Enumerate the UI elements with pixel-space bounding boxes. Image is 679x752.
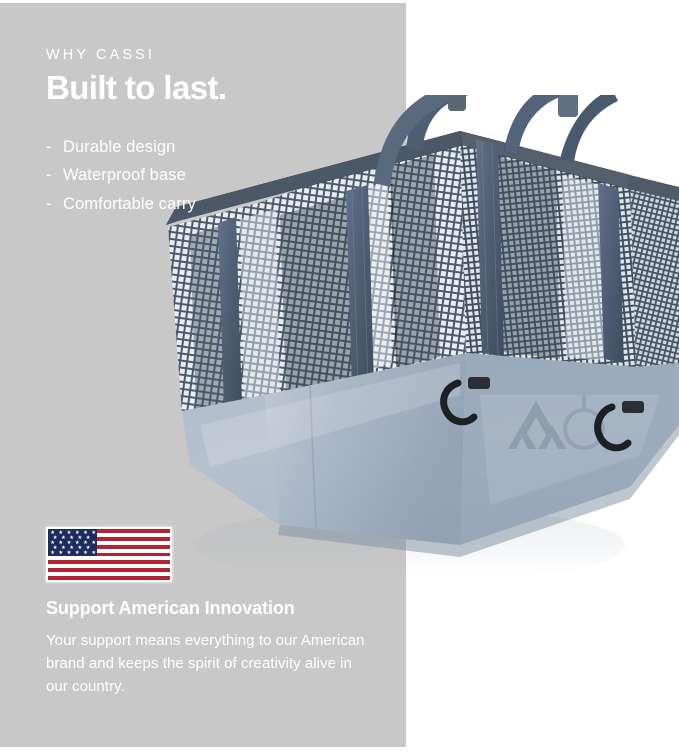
list-item: - Waterproof base	[46, 161, 376, 189]
list-item: - Comfortable carry	[46, 190, 376, 218]
page-title: Built to last.	[46, 70, 376, 107]
support-title: Support American Innovation	[46, 598, 366, 620]
list-item-label: Durable design	[63, 133, 175, 161]
flag-stripe	[48, 576, 170, 580]
bullet-dash-icon: -	[46, 133, 54, 161]
bullet-dash-icon: -	[46, 190, 54, 218]
flag-stripe	[48, 560, 170, 564]
feature-list: - Durable design - Waterproof base - Com…	[46, 133, 376, 218]
flag-stripe	[48, 568, 170, 572]
support-body-text: Your support means everything to our Ame…	[46, 629, 366, 699]
list-item: - Durable design	[46, 133, 376, 161]
top-copy-block: WHY CASSI Built to last. - Durable desig…	[46, 48, 376, 218]
bullet-dash-icon: -	[46, 161, 54, 189]
eyebrow-label: WHY CASSI	[46, 48, 376, 64]
marketing-graphic: WHY CASSI Built to last. - Durable desig…	[0, 0, 679, 752]
flag-canvas: ★ ★ ★ ★ ★ ★ ★ ★ ★ ★ ★ ★ ★ ★ ★ ★ ★ ★ ★ ★ …	[48, 529, 170, 580]
list-item-label: Waterproof base	[63, 161, 186, 189]
list-item-label: Comfortable carry	[63, 190, 196, 218]
flag-stars: ★ ★ ★ ★ ★ ★ ★ ★ ★ ★ ★ ★ ★ ★ ★ ★ ★ ★ ★ ★ …	[48, 529, 97, 556]
united-states-flag: ★ ★ ★ ★ ★ ★ ★ ★ ★ ★ ★ ★ ★ ★ ★ ★ ★ ★ ★ ★ …	[46, 527, 172, 582]
support-copy-block: Support American Innovation Your support…	[46, 598, 366, 698]
